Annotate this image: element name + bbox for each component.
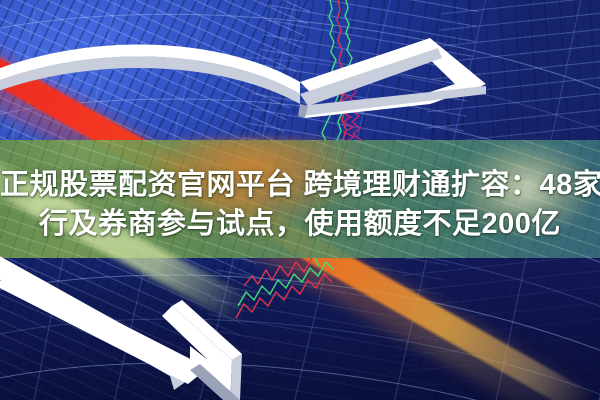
headline-line-1: 正规股票配资官网平台 跨境理财通扩容：48家银 [0, 166, 600, 205]
headline-text: 正规股票配资官网平台 跨境理财通扩容：48家银 行及券商参与试点，使用额度不足2… [0, 166, 600, 244]
arrow-up-right-icon [0, 8, 500, 138]
headline-line-2: 行及券商参与试点，使用额度不足200亿 [0, 205, 600, 244]
thumbnail-canvas: 正规股票配资官网平台 跨境理财通扩容：48家银 行及券商参与试点，使用额度不足2… [0, 0, 600, 400]
arrow-down-right-icon [0, 250, 360, 400]
